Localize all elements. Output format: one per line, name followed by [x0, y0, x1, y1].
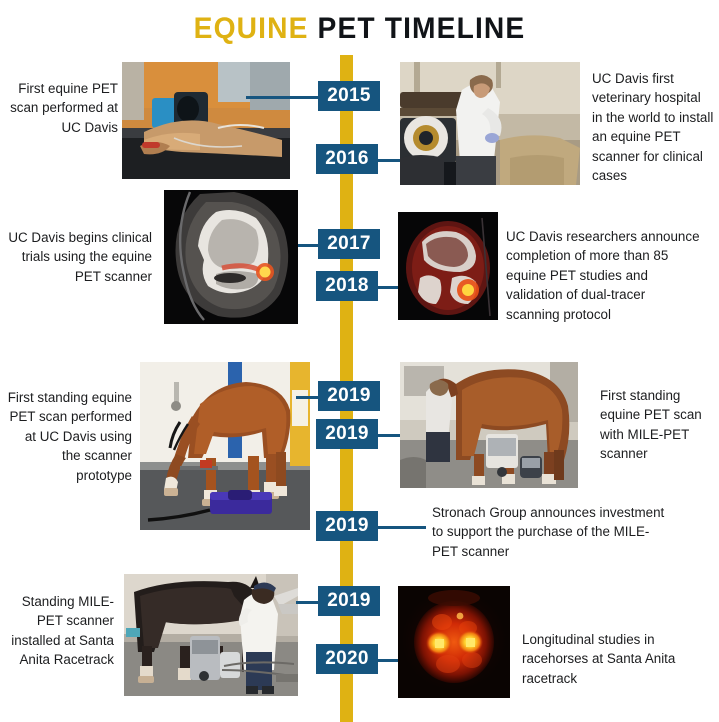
photo-scanner-installation	[400, 62, 580, 185]
photo-mile-pet-installed-santa-anita	[124, 574, 298, 696]
connector-2018	[378, 286, 398, 289]
photo-ct-pet-fusion-fetlock	[164, 190, 298, 324]
photo-first-equine-pet-scan	[122, 62, 290, 179]
page-title-rest: PET TIMELINE	[318, 12, 526, 45]
connector-2019-mile-pet	[378, 434, 400, 437]
year-badge-2018[interactable]: 2018	[316, 271, 378, 301]
connector-2020	[378, 659, 398, 662]
caption-2018: UC Davis researchers announce completion…	[506, 227, 702, 324]
caption-2019-prototype: First standing equine PET scan performed…	[6, 388, 132, 485]
caption-2019-santa-anita: Standing MILE-PET scanner installed at S…	[4, 592, 114, 670]
caption-2016: UC Davis first veterinary hospital in th…	[592, 69, 714, 185]
connector-2017	[298, 244, 318, 247]
connector-2015	[246, 96, 318, 99]
year-badge-2017[interactable]: 2017	[318, 229, 380, 259]
caption-2017: UC Davis begins clinical trials using th…	[6, 228, 152, 286]
page-title: EQUINE PET TIMELINE	[22, 10, 698, 48]
photo-dual-tracer-pet-scan	[398, 212, 498, 320]
page-title-highlight: EQUINE	[194, 12, 309, 45]
photo-standing-mile-pet-scan	[400, 362, 578, 488]
connector-2019-prototype	[296, 396, 318, 399]
connector-2019-santa-anita	[296, 601, 318, 604]
year-badge-2019-stronach[interactable]: 2019	[316, 511, 378, 541]
year-badge-2016[interactable]: 2016	[316, 144, 378, 174]
infographic-page: EQUINE PET TIMELINE 2015 First equine PE…	[0, 0, 719, 722]
caption-2019-mile-pet: First standing equine PET scan with MILE…	[600, 386, 712, 464]
year-badge-2020[interactable]: 2020	[316, 644, 378, 674]
year-badge-2019-mile-pet[interactable]: 2019	[316, 419, 378, 449]
connector-2016	[378, 159, 400, 162]
year-badge-2019-prototype[interactable]: 2019	[318, 381, 380, 411]
year-badge-2019-santa-anita[interactable]: 2019	[318, 586, 380, 616]
year-badge-2015[interactable]: 2015	[318, 81, 380, 111]
caption-2019-stronach: Stronach Group announces investment to s…	[432, 503, 670, 561]
photo-standing-scan-prototype	[140, 362, 310, 530]
caption-2020: Longitudinal studies in racehorses at Sa…	[522, 630, 706, 688]
caption-2015: First equine PET scan performed at UC Da…	[8, 79, 118, 137]
photo-longitudinal-pet-study	[398, 586, 510, 698]
connector-2019-stronach	[378, 526, 426, 529]
